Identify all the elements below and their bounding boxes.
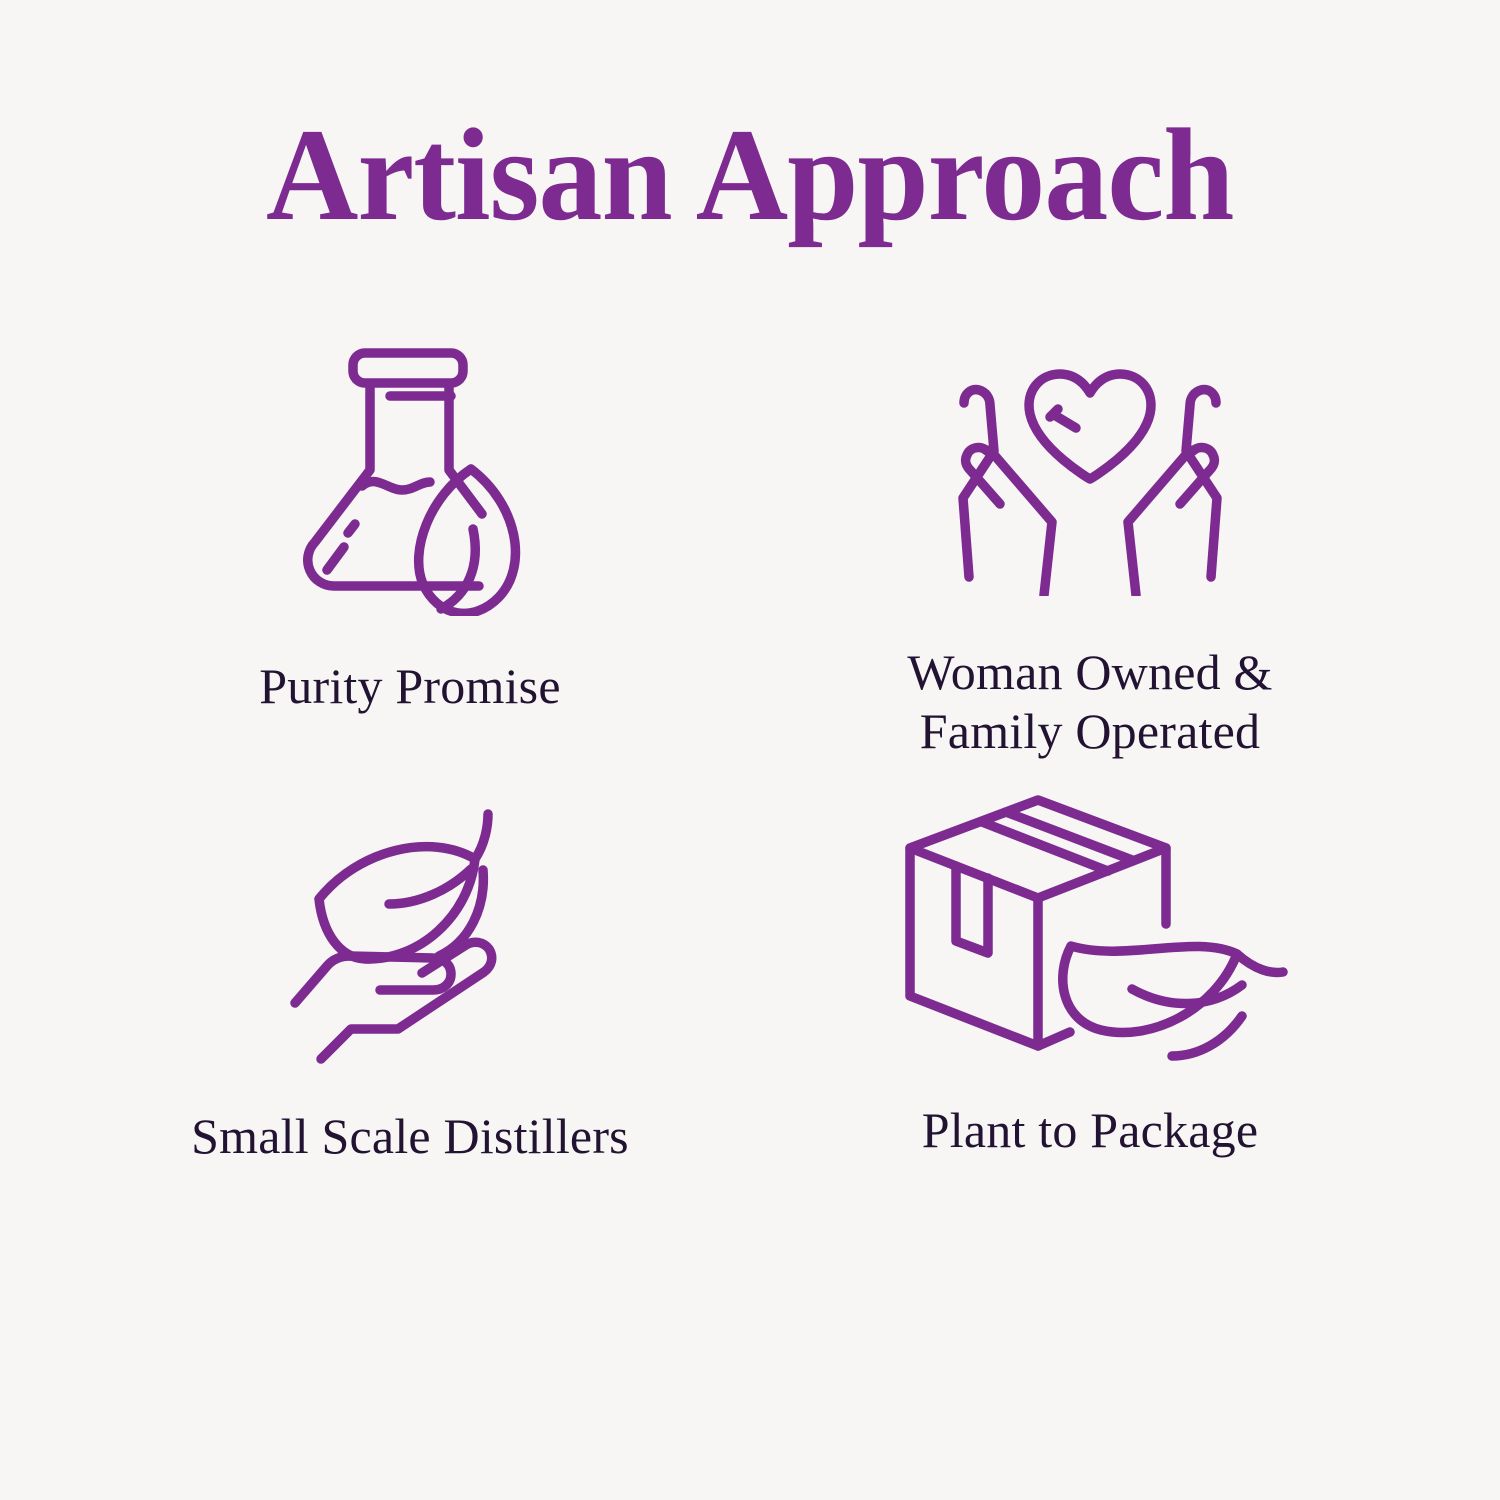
feature-label-small-scale-distillers: Small Scale Distillers: [191, 1107, 629, 1166]
feature-label-line-1: Small Scale Distillers: [191, 1108, 629, 1164]
feature-item-woman-owned: Woman Owned & Family Operated: [750, 321, 1430, 761]
feature-item-small-scale-distillers: Small Scale Distillers: [70, 769, 750, 1209]
hands-holding-heart-icon: [930, 321, 1250, 607]
page-title: Artisan Approach: [266, 0, 1233, 243]
feature-item-plant-to-package: Plant to Package: [750, 769, 1430, 1209]
feature-label-woman-owned: Woman Owned & Family Operated: [907, 643, 1272, 761]
hands-holding-heart-icon-svg: [930, 346, 1250, 596]
leaf-over-hand-icon: [285, 769, 535, 1077]
box-leaf-icon: [890, 769, 1290, 1071]
artisan-approach-panel: Artisan Approach: [0, 0, 1500, 1500]
feature-label-plant-to-package: Plant to Package: [922, 1101, 1258, 1160]
feature-label-line-1: Woman Owned &: [907, 644, 1272, 700]
box-leaf-icon-svg: [890, 786, 1290, 1066]
flask-leaf-icon: [271, 321, 549, 621]
flask-leaf-icon-svg: [289, 326, 549, 616]
feature-label-line-2: Family Operated: [907, 702, 1272, 761]
feature-grid: Purity Promise: [70, 321, 1430, 1209]
feature-label-line-1: Plant to Package: [922, 1102, 1258, 1158]
leaf-over-hand-icon-svg: [285, 797, 535, 1067]
feature-label-line-1: Purity Promise: [259, 658, 560, 714]
feature-item-purity-promise: Purity Promise: [70, 321, 750, 761]
feature-label-purity-promise: Purity Promise: [259, 657, 560, 716]
